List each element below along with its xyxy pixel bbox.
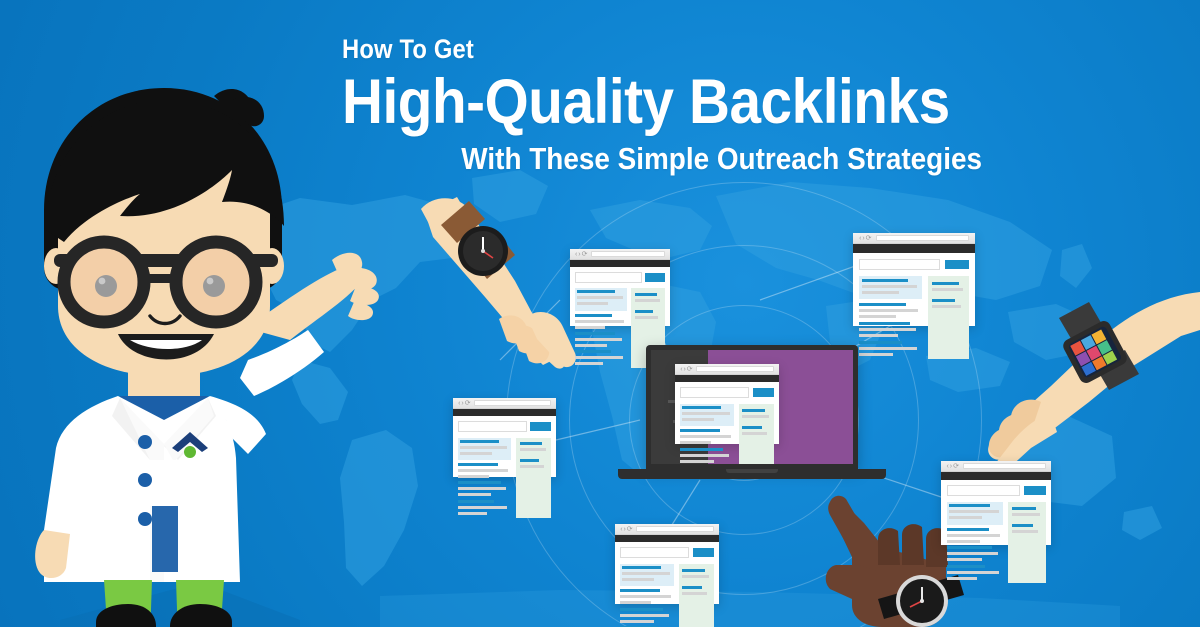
search-button[interactable] [1024,486,1046,495]
nav-buttons[interactable]: ‹ › ⟳ [620,526,631,533]
search-row[interactable] [947,485,1046,496]
scientist-character [0,60,400,627]
hand-pointing-left-right-side [985,292,1200,472]
reload-icon[interactable]: ⟳ [866,235,872,242]
headline-sub: With These Simple Outreach Strategies [406,143,982,174]
coat-button [138,435,152,449]
reload-icon[interactable]: ⟳ [465,400,471,407]
back-icon[interactable]: ‹ [620,526,622,533]
sidebar-panel [516,438,551,518]
search-row[interactable] [680,387,774,398]
featured-result[interactable] [458,438,511,460]
nav-buttons[interactable]: ‹ › ⟳ [947,463,958,470]
search-row[interactable] [575,272,665,283]
results-column [859,276,922,359]
result-item[interactable] [859,303,922,318]
right-eye [203,275,225,297]
window-body [453,416,556,478]
forward-icon[interactable]: › [578,251,580,258]
window-titlebar: ‹ › ⟳ [453,398,556,409]
result-item[interactable] [575,314,627,329]
sidebar-panel [739,404,774,464]
featured-result[interactable] [859,276,922,299]
window-body [675,382,779,445]
forward-icon[interactable]: › [950,463,952,470]
window-body [941,480,1051,546]
result-item[interactable] [575,350,627,365]
nav-strip [675,375,779,382]
search-input[interactable] [947,485,1020,496]
back-icon[interactable]: ‹ [680,366,682,373]
search-row[interactable] [859,259,969,270]
result-item[interactable] [458,463,511,478]
address-bar[interactable] [963,463,1046,470]
result-item[interactable] [947,565,1004,580]
forward-icon[interactable]: › [461,400,463,407]
window-body [853,253,975,326]
window-body [615,542,719,605]
reload-icon[interactable]: ⟳ [582,251,588,258]
search-row[interactable] [620,547,714,558]
results-column [575,288,627,368]
back-icon[interactable]: ‹ [859,235,861,242]
result-item[interactable] [947,528,1004,543]
featured-result[interactable] [680,404,734,426]
nav-strip [941,472,1051,480]
sidebar-panel [928,276,969,359]
result-item[interactable] [458,481,511,496]
search-button[interactable] [530,422,550,431]
search-input[interactable] [859,259,940,270]
result-item[interactable] [458,500,511,515]
results-column [620,564,674,627]
headline-kicker: How To Get [342,36,905,63]
window-titlebar: ‹ › ⟳ [675,364,779,375]
address-bar[interactable] [876,235,969,242]
reload-icon[interactable]: ⟳ [687,366,693,373]
headline-main: High-Quality Backlinks [342,71,918,134]
laptop[interactable]: ‹ › ⟳ [646,345,858,469]
window-titlebar: ‹ › ⟳ [615,524,719,535]
browser-window[interactable]: ‹ › ⟳ [453,398,556,477]
results-column [458,438,511,518]
featured-result[interactable] [947,502,1004,525]
nav-buttons[interactable]: ‹ › ⟳ [458,400,469,407]
hand-pointing-down-left [415,195,585,370]
coat-button [138,512,152,526]
results-column [680,404,734,464]
sidebar-panel [1008,502,1045,583]
featured-result[interactable] [575,288,627,310]
result-item[interactable] [859,322,922,337]
back-icon[interactable]: ‹ [947,463,949,470]
result-item[interactable] [620,608,674,623]
browser-window[interactable]: ‹ › ⟳ [941,461,1051,545]
reload-icon[interactable]: ⟳ [953,463,959,470]
laptop-trackpad-notch [726,469,778,473]
nav-buttons[interactable]: ‹ › ⟳ [859,235,870,242]
address-bar[interactable] [636,526,713,533]
search-input[interactable] [680,387,749,398]
browser-window[interactable]: ‹ › ⟳ [615,524,719,604]
result-item[interactable] [680,448,734,463]
browser-window[interactable]: ‹ › ⟳ [675,364,779,444]
reload-icon[interactable]: ⟳ [627,526,633,533]
address-bar[interactable] [591,251,665,258]
nav-strip [453,409,556,416]
search-button[interactable] [645,273,665,282]
browser-window[interactable]: ‹ › ⟳ [853,233,975,326]
laptop-lid: ‹ › ⟳ [646,345,858,469]
result-item[interactable] [575,332,627,347]
back-icon[interactable]: ‹ [575,251,577,258]
featured-result[interactable] [620,564,674,586]
window-titlebar: ‹ › ⟳ [853,233,975,244]
left-eye [95,275,117,297]
result-item[interactable] [947,546,1004,561]
back-icon[interactable]: ‹ [458,400,460,407]
window-body [570,267,670,328]
nav-strip [570,260,670,267]
result-item[interactable] [680,429,734,444]
window-titlebar: ‹ › ⟳ [570,249,670,260]
forward-icon[interactable]: › [862,235,864,242]
results-column [947,502,1004,583]
result-item[interactable] [620,589,674,604]
search-row[interactable] [458,421,551,432]
search-button[interactable] [693,548,714,557]
nav-buttons[interactable]: ‹ › ⟳ [680,366,691,373]
headline-block: How To Get High-Quality Backlinks With T… [342,36,982,174]
result-item[interactable] [859,341,922,356]
address-bar[interactable] [474,400,551,407]
sidebar-panel [679,564,714,627]
search-input[interactable] [575,272,642,283]
search-button[interactable] [753,388,774,397]
nav-strip [615,535,719,542]
address-bar[interactable] [696,366,773,373]
search-button[interactable] [945,260,969,269]
window-titlebar: ‹ › ⟳ [941,461,1051,472]
browser-window[interactable]: ‹ › ⟳ [570,249,670,326]
search-input[interactable] [458,421,527,432]
banner-canvas: How To Get High-Quality Backlinks With T… [0,0,1200,627]
search-input[interactable] [620,547,689,558]
coat-button [138,473,152,487]
nav-buttons[interactable]: ‹ › ⟳ [575,251,586,258]
forward-icon[interactable]: › [683,366,685,373]
nav-strip [853,244,975,252]
laptop-screen: ‹ › ⟳ [651,350,853,464]
forward-icon[interactable]: › [623,526,625,533]
